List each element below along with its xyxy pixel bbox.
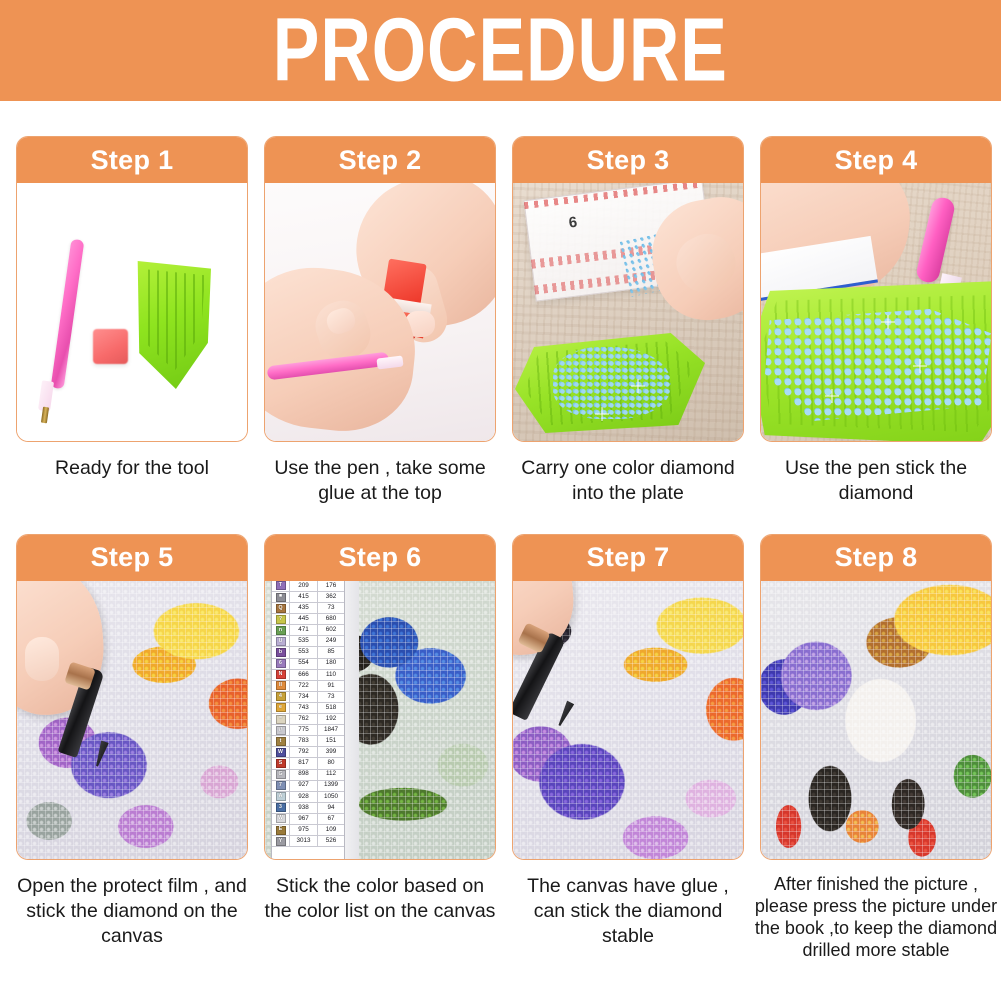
color-symbol-cell: G — [272, 770, 290, 780]
page-banner: PROCEDURE — [0, 0, 1001, 101]
color-list-table: T209176■415362Q43573?445680n471602U53524… — [271, 581, 345, 860]
color-list-row: 79271399 — [272, 781, 344, 792]
step-image-4 — [761, 183, 991, 442]
pink-pen-icon — [51, 239, 85, 389]
color-swatch-icon: // — [276, 726, 286, 735]
color-swatch-icon: ■ — [276, 593, 286, 602]
dmc-code-cell: 967 — [290, 814, 318, 824]
diamond-count-cell: 112 — [318, 771, 344, 777]
diamond-count-cell: 91 — [318, 683, 344, 689]
dmc-code-cell: 927 — [290, 781, 318, 791]
step-cell-7: Step 7 The canvas have glue , can stick … — [512, 534, 744, 962]
dmc-code-cell: 928 — [290, 792, 318, 802]
color-symbol-cell: N — [272, 670, 290, 680]
color-swatch-icon: 4 — [276, 692, 286, 701]
step-caption-5: Open the protect film , and stick the di… — [13, 874, 251, 949]
color-swatch-icon: 3 — [276, 803, 286, 812]
dmc-code-cell: 817 — [290, 758, 318, 768]
color-swatch-icon: t — [276, 737, 286, 746]
wax-square-icon — [93, 329, 128, 364]
color-list-row: T209176 — [272, 581, 344, 592]
steps-row-1: Step 1 Ready for the tool Step 2 — [0, 136, 1001, 506]
dmc-code-cell: 734 — [290, 692, 318, 702]
step-header-5: Step 5 — [17, 535, 247, 581]
color-symbol-cell: Q — [272, 603, 290, 613]
color-symbol-cell: = — [272, 714, 290, 724]
color-swatch-icon: n — [276, 626, 286, 635]
page-title: PROCEDURE — [273, 6, 728, 96]
step-header-7: Step 7 — [513, 535, 743, 581]
step-cell-5: Step 5 Open the protect film , and stick… — [16, 534, 248, 962]
steps-grid: Step 1 Ready for the tool Step 2 — [0, 136, 1001, 962]
diamond-count-cell: 109 — [318, 827, 344, 833]
step-cell-8: Step 8 After finished the picture , plea… — [760, 534, 992, 962]
color-symbol-cell: A — [272, 792, 290, 802]
color-list-row: ?445680 — [272, 614, 344, 625]
color-list-row: //7751847 — [272, 725, 344, 736]
color-list-row: 393894 — [272, 803, 344, 814]
color-list-row: n471602 — [272, 625, 344, 636]
step-caption-1: Ready for the tool — [13, 456, 251, 481]
color-list-row: ■415362 — [272, 592, 344, 603]
color-symbol-cell: 6 — [272, 659, 290, 669]
dmc-code-cell: 743 — [290, 703, 318, 713]
step-caption-8: After finished the picture , please pres… — [753, 874, 999, 962]
step-cell-4: Step 4 — [760, 136, 992, 506]
diamond-count-cell: 362 — [318, 594, 344, 600]
step-image-5 — [17, 581, 247, 860]
step-header-2: Step 2 — [265, 137, 495, 183]
diamond-count-cell: 85 — [318, 649, 344, 655]
dmc-code-cell: 471 — [290, 625, 318, 635]
diamond-count-cell: 680 — [318, 616, 344, 622]
color-symbol-cell: E — [272, 825, 290, 835]
dmc-code-cell: 554 — [290, 659, 318, 669]
color-list-row: W96767 — [272, 814, 344, 825]
color-swatch-icon: e — [276, 703, 286, 712]
step-caption-7: The canvas have glue , can stick the dia… — [509, 874, 747, 949]
color-swatch-icon: Q — [276, 604, 286, 613]
color-symbol-cell: T — [272, 581, 290, 591]
step-caption-4: Use the pen stick the diamond — [757, 456, 995, 506]
color-list-row: A9281050 — [272, 792, 344, 803]
chart-gutter — [343, 581, 359, 860]
color-swatch-icon: W — [276, 748, 286, 757]
diamond-count-cell: 176 — [318, 583, 344, 589]
color-symbol-cell: 4 — [272, 692, 290, 702]
pen-metal-tip-icon — [41, 407, 49, 424]
color-list-row: e743518 — [272, 703, 344, 714]
color-list-row: N666110 — [272, 670, 344, 681]
step-card-3[interactable]: Step 3 6 — [512, 136, 744, 442]
step-card-8[interactable]: Step 8 — [760, 534, 992, 860]
color-list-row: U535249 — [272, 636, 344, 647]
diamond-count-cell: 399 — [318, 749, 344, 755]
diamond-count-cell: 249 — [318, 638, 344, 644]
color-swatch-icon: II — [276, 681, 286, 690]
dmc-code-cell: 435 — [290, 603, 318, 613]
dmc-code-cell: 445 — [290, 614, 318, 624]
step-header-6: Step 6 — [265, 535, 495, 581]
color-symbol-cell: e — [272, 703, 290, 713]
color-list-row: t783151 — [272, 736, 344, 747]
step-header-1: Step 1 — [17, 137, 247, 183]
color-symbol-cell: // — [272, 725, 290, 735]
color-symbol-cell: ? — [272, 614, 290, 624]
step-image-8 — [761, 581, 991, 860]
step-card-1[interactable]: Step 1 — [16, 136, 248, 442]
fingernail-icon — [25, 637, 59, 681]
color-list-row: E975109 — [272, 825, 344, 836]
color-list-row: G898112 — [272, 770, 344, 781]
color-list-row: II72291 — [272, 681, 344, 692]
step-card-4[interactable]: Step 4 — [760, 136, 992, 442]
step-header-3: Step 3 — [513, 137, 743, 183]
color-list-row: W792399 — [272, 747, 344, 758]
color-swatch-icon: T — [276, 581, 286, 590]
diamond-count-cell: 1399 — [318, 782, 344, 788]
dmc-code-cell: 938 — [290, 803, 318, 813]
diamond-count-cell: 526 — [318, 838, 344, 844]
dmc-code-cell: 3013 — [290, 836, 318, 846]
step-caption-6: Stick the color based on the color list … — [261, 874, 499, 924]
color-list-row: S81780 — [272, 758, 344, 769]
dmc-code-cell: 783 — [290, 736, 318, 746]
color-swatch-icon: E — [276, 826, 286, 835]
diamond-count-cell: 180 — [318, 660, 344, 666]
dmc-code-cell: 722 — [290, 681, 318, 691]
color-symbol-cell: t — [272, 736, 290, 746]
diamond-count-cell: 94 — [318, 805, 344, 811]
step-card-5[interactable]: Step 5 — [16, 534, 248, 860]
color-symbol-cell: U — [272, 636, 290, 646]
color-swatch-icon: G — [276, 770, 286, 779]
color-swatch-icon: Y — [276, 837, 286, 846]
color-symbol-cell: Y — [272, 836, 290, 846]
dmc-code-cell: 553 — [290, 647, 318, 657]
diamond-count-cell: 80 — [318, 760, 344, 766]
color-swatch-icon: b — [276, 648, 286, 657]
step-card-6[interactable]: Step 6 T209176■415362Q43573?445680n47160… — [264, 534, 496, 860]
dmc-code-cell: 975 — [290, 825, 318, 835]
color-list-row: 6554180 — [272, 659, 344, 670]
diamond-count-cell: 151 — [318, 738, 344, 744]
step-card-7[interactable]: Step 7 — [512, 534, 744, 860]
color-symbol-cell: ■ — [272, 592, 290, 602]
diamond-count-cell: 1847 — [318, 727, 344, 733]
step-image-3: 6 — [513, 183, 743, 442]
step-card-2[interactable]: Step 2 — [264, 136, 496, 442]
color-swatch-icon: 7 — [276, 781, 286, 790]
color-symbol-cell: b — [272, 647, 290, 657]
dmc-code-cell: 762 — [290, 714, 318, 724]
color-list-row: 473473 — [272, 692, 344, 703]
step-caption-3: Carry one color diamond into the plate — [509, 456, 747, 506]
step-cell-3: Step 3 6 — [512, 136, 744, 506]
step-cell-2: Step 2 — [264, 136, 496, 506]
diamond-count-cell: 73 — [318, 694, 344, 700]
diamond-count-cell: 110 — [318, 672, 344, 678]
step-image-2 — [265, 183, 495, 442]
step-cell-6: Step 6 T209176■415362Q43573?445680n47160… — [264, 534, 496, 962]
dmc-code-cell: 775 — [290, 725, 318, 735]
color-symbol-cell: W — [272, 747, 290, 757]
step-header-4: Step 4 — [761, 137, 991, 183]
color-symbol-cell: 3 — [272, 803, 290, 813]
color-list-row: =762192 — [272, 714, 344, 725]
color-list-row: Q43573 — [272, 603, 344, 614]
color-list-row: Y3013526 — [272, 836, 344, 847]
dmc-code-cell: 209 — [290, 581, 318, 591]
color-symbol-cell: S — [272, 758, 290, 768]
dmc-code-cell: 792 — [290, 747, 318, 757]
diamond-count-cell: 602 — [318, 627, 344, 633]
step-header-8: Step 8 — [761, 535, 991, 581]
steps-row-2: Step 5 Open the protect film , and stick… — [0, 534, 1001, 962]
diamond-count-cell: 192 — [318, 716, 344, 722]
diamond-count-cell: 73 — [318, 605, 344, 611]
color-swatch-icon: W — [276, 814, 286, 823]
step-cell-1: Step 1 Ready for the tool — [16, 136, 248, 506]
color-symbol-cell: n — [272, 625, 290, 635]
dmc-code-cell: 898 — [290, 770, 318, 780]
blue-diamonds-icon — [765, 309, 991, 421]
step-image-1 — [17, 183, 247, 442]
step-image-7 — [513, 581, 743, 860]
diamond-count-cell: 67 — [318, 816, 344, 822]
color-swatch-icon: 6 — [276, 659, 286, 668]
diamond-count-cell: 518 — [318, 705, 344, 711]
blue-diamonds-icon — [553, 347, 671, 419]
color-symbol-cell: 7 — [272, 781, 290, 791]
finished-picture-icon — [761, 581, 991, 860]
color-list-row: b55385 — [272, 647, 344, 658]
color-swatch-icon: = — [276, 715, 286, 724]
dmc-code-cell: 666 — [290, 670, 318, 680]
color-swatch-icon: ? — [276, 615, 286, 624]
color-swatch-icon: S — [276, 759, 286, 768]
dmc-code-cell: 415 — [290, 592, 318, 602]
color-swatch-icon: N — [276, 670, 286, 679]
color-symbol-cell: W — [272, 814, 290, 824]
step-caption-2: Use the pen , take some glue at the top — [261, 456, 499, 506]
color-swatch-icon: A — [276, 792, 286, 801]
dmc-code-cell: 535 — [290, 636, 318, 646]
diamond-count-cell: 1050 — [318, 794, 344, 800]
step-image-6: T209176■415362Q43573?445680n471602U53524… — [265, 581, 495, 860]
color-swatch-icon: U — [276, 637, 286, 646]
color-symbol-cell: II — [272, 681, 290, 691]
